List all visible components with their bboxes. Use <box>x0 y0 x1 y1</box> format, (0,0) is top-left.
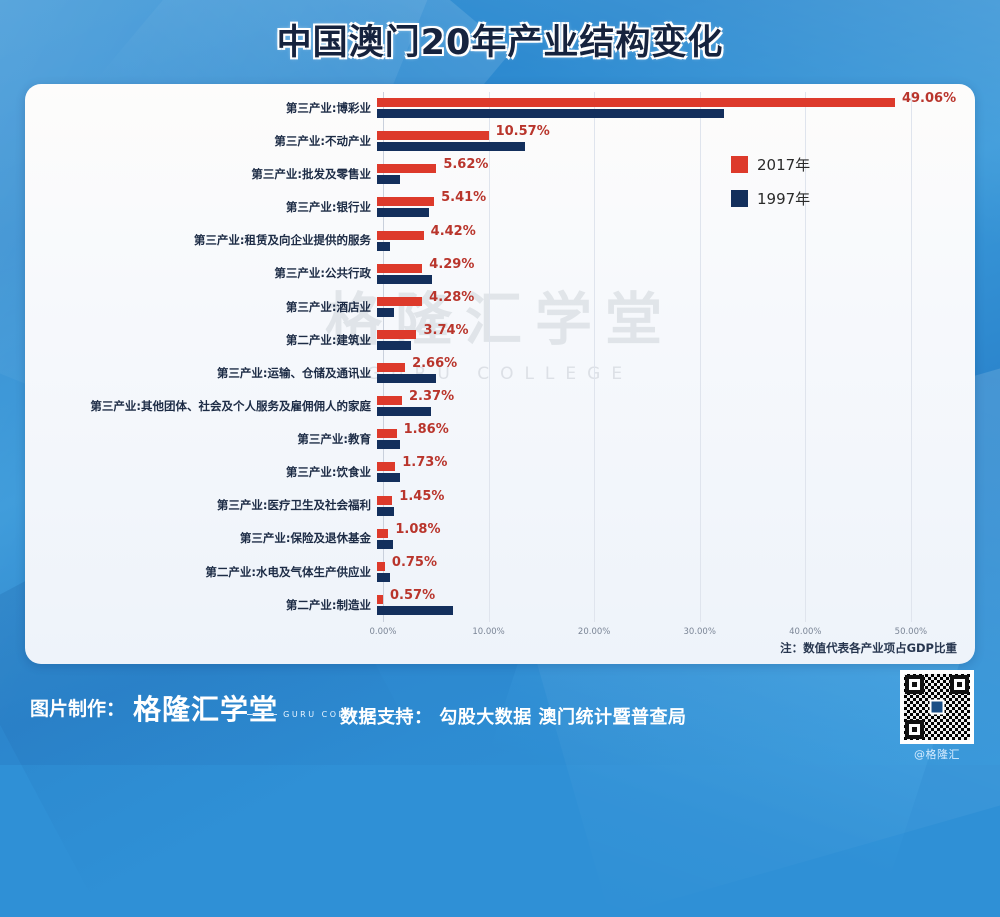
category-label: 第三产业:医疗卫生及社会福利 <box>25 500 377 512</box>
bar-value-label: 1.08% <box>395 523 440 536</box>
x-axis-tick-label: 50.00% <box>895 627 927 637</box>
bar-group: 4.42% <box>377 225 975 258</box>
bar-1997[interactable] <box>377 606 453 615</box>
category-label: 第三产业:博彩业 <box>25 103 377 115</box>
bar-2017[interactable] <box>377 462 395 471</box>
bar-1997[interactable] <box>377 275 432 284</box>
bar-2017[interactable] <box>377 496 392 505</box>
bar-1997[interactable] <box>377 208 429 217</box>
bar-group: 49.06% <box>377 92 975 125</box>
bar-2017[interactable] <box>377 131 489 140</box>
category-label: 第三产业:运输、仓储及通讯业 <box>25 368 377 380</box>
chart-row: 第三产业:不动产业10.57% <box>25 125 975 158</box>
chart-row: 第三产业:医疗卫生及社会福利1.45% <box>25 490 975 523</box>
bar-group: 4.28% <box>377 291 975 324</box>
legend-swatch <box>731 190 748 207</box>
chart-row: 第三产业:租赁及向企业提供的服务4.42% <box>25 225 975 258</box>
bar-value-label: 4.28% <box>429 291 474 304</box>
legend-label: 2017年 <box>757 154 810 175</box>
category-label: 第三产业:其他团体、社会及个人服务及雇佣佣人的家庭 <box>25 401 377 413</box>
qr-center-logo <box>930 700 945 715</box>
category-label: 第三产业:公共行政 <box>25 268 377 280</box>
category-label: 第三产业:教育 <box>25 434 377 446</box>
bar-group: 1.86% <box>377 423 975 456</box>
bar-group: 3.74% <box>377 324 975 357</box>
bar-chart: 第三产业:博彩业49.06%第三产业:不动产业10.57%第三产业:批发及零售业… <box>25 84 975 664</box>
bar-2017[interactable] <box>377 562 385 571</box>
x-axis-tick-label: 0.00% <box>369 627 396 637</box>
qr-finder-bottom-left <box>905 720 924 739</box>
chart-row: 第二产业:建筑业3.74% <box>25 324 975 357</box>
bar-2017[interactable] <box>377 264 422 273</box>
bar-2017[interactable] <box>377 164 436 173</box>
chart-row: 第三产业:博彩业49.06% <box>25 92 975 125</box>
bar-2017[interactable] <box>377 363 405 372</box>
page-title: 中国澳门20年产业结构变化 <box>0 14 1000 65</box>
chart-row: 第三产业:运输、仓储及通讯业2.66% <box>25 357 975 390</box>
bar-1997[interactable] <box>377 242 390 251</box>
x-axis-tick-label: 20.00% <box>578 627 610 637</box>
chart-row: 第三产业:银行业5.41% <box>25 191 975 224</box>
bar-value-label: 4.29% <box>429 258 474 271</box>
category-label: 第二产业:建筑业 <box>25 335 377 347</box>
brand-name-cn: 格隆汇学堂 <box>133 693 278 726</box>
bar-2017[interactable] <box>377 330 416 339</box>
bar-value-label: 0.75% <box>392 556 437 569</box>
bar-2017[interactable] <box>377 297 422 306</box>
category-label: 第三产业:保险及退休基金 <box>25 533 377 545</box>
chart-note: 注：数值代表各产业项占GDP比重 <box>780 640 957 656</box>
bar-value-label: 1.86% <box>404 423 449 436</box>
chart-row: 第三产业:批发及零售业5.62% <box>25 158 975 191</box>
legend-label: 1997年 <box>757 188 810 209</box>
x-axis-tick-label: 30.00% <box>684 627 716 637</box>
bar-value-label: 4.42% <box>431 225 476 238</box>
bar-2017[interactable] <box>377 98 895 107</box>
qr-handle-label: @格隆汇 <box>900 746 974 762</box>
chart-row: 第二产业:制造业0.57% <box>25 589 975 622</box>
category-label: 第三产业:饮食业 <box>25 467 377 479</box>
legend-swatch <box>731 156 748 173</box>
bar-1997[interactable] <box>377 308 394 317</box>
bar-group: 5.41% <box>377 191 975 224</box>
bar-value-label: 3.74% <box>423 324 468 337</box>
bar-2017[interactable] <box>377 396 402 405</box>
bar-1997[interactable] <box>377 507 394 516</box>
bar-1997[interactable] <box>377 407 431 416</box>
footer-credit: 图片制作： 格隆汇学堂 GURU COLLEGE <box>30 694 376 724</box>
footer: 图片制作： 格隆汇学堂 GURU COLLEGE 数据支持： 勾股大数据 澳门统… <box>0 664 1000 765</box>
bar-value-label: 5.41% <box>441 191 486 204</box>
category-label: 第二产业:水电及气体生产供应业 <box>25 567 377 579</box>
chart-card: 格隆汇学堂 GURU COLLEGE 第三产业:博彩业49.06%第三产业:不动… <box>25 84 975 664</box>
qr-pattern <box>904 674 970 740</box>
bar-2017[interactable] <box>377 197 434 206</box>
bar-1997[interactable] <box>377 142 525 151</box>
category-label: 第三产业:批发及零售业 <box>25 169 377 181</box>
chart-row: 第三产业:酒店业4.28% <box>25 291 975 324</box>
category-label: 第三产业:酒店业 <box>25 302 377 314</box>
bar-value-label: 49.06% <box>902 92 956 105</box>
bar-group: 0.75% <box>377 556 975 589</box>
bar-group: 1.45% <box>377 490 975 523</box>
bar-group: 1.73% <box>377 456 975 489</box>
qr-code-icon[interactable] <box>900 670 974 744</box>
qr-code-block[interactable]: @格隆汇 <box>900 670 974 762</box>
bar-1997[interactable] <box>377 374 436 383</box>
bar-value-label: 2.37% <box>409 390 454 403</box>
bar-value-label: 5.62% <box>443 158 488 171</box>
bar-2017[interactable] <box>377 529 388 538</box>
footer-source-label: 数据支持： 勾股大数据 澳门统计暨普查局 <box>340 703 687 729</box>
bar-group: 1.08% <box>377 523 975 556</box>
bar-1997[interactable] <box>377 109 724 118</box>
bar-2017[interactable] <box>377 595 383 604</box>
bar-value-label: 0.57% <box>390 589 435 602</box>
bar-group: 4.29% <box>377 258 975 291</box>
bar-group: 2.66% <box>377 357 975 390</box>
bar-value-label: 2.66% <box>412 357 457 370</box>
legend-item[interactable]: 2017年 <box>731 154 810 175</box>
bar-2017[interactable] <box>377 429 397 438</box>
bar-group: 2.37% <box>377 390 975 423</box>
chart-row: 第三产业:保险及退休基金1.08% <box>25 523 975 556</box>
legend-item[interactable]: 1997年 <box>731 188 810 209</box>
bar-1997[interactable] <box>377 175 400 184</box>
bar-value-label: 1.73% <box>402 456 447 469</box>
bar-1997[interactable] <box>377 573 390 582</box>
bar-1997[interactable] <box>377 341 411 350</box>
qr-finder-top-left <box>905 675 924 694</box>
bar-value-label: 1.45% <box>399 490 444 503</box>
bar-1997[interactable] <box>377 440 400 449</box>
bar-1997[interactable] <box>377 473 400 482</box>
x-axis-tick-label: 40.00% <box>789 627 821 637</box>
chart-row: 第三产业:饮食业1.73% <box>25 456 975 489</box>
x-axis-tick-label: 10.00% <box>472 627 504 637</box>
bar-group: 5.62% <box>377 158 975 191</box>
bar-1997[interactable] <box>377 540 393 549</box>
chart-row: 第三产业:其他团体、社会及个人服务及雇佣佣人的家庭2.37% <box>25 390 975 423</box>
qr-finder-top-right <box>950 675 969 694</box>
category-label: 第三产业:银行业 <box>25 202 377 214</box>
bar-group: 10.57% <box>377 125 975 158</box>
credit-prefix-label: 图片制作： <box>30 694 125 724</box>
category-label: 第三产业:不动产业 <box>25 136 377 148</box>
category-label: 第二产业:制造业 <box>25 600 377 612</box>
category-label: 第三产业:租赁及向企业提供的服务 <box>25 235 377 247</box>
chart-row: 第三产业:教育1.86% <box>25 423 975 456</box>
chart-rows: 第三产业:博彩业49.06%第三产业:不动产业10.57%第三产业:批发及零售业… <box>25 92 975 622</box>
chart-legend: 2017年1997年 <box>731 154 810 222</box>
chart-row: 第二产业:水电及气体生产供应业0.75% <box>25 556 975 589</box>
chart-row: 第三产业:公共行政4.29% <box>25 258 975 291</box>
bar-group: 0.57% <box>377 589 975 622</box>
bar-2017[interactable] <box>377 231 424 240</box>
bar-value-label: 10.57% <box>496 125 550 138</box>
